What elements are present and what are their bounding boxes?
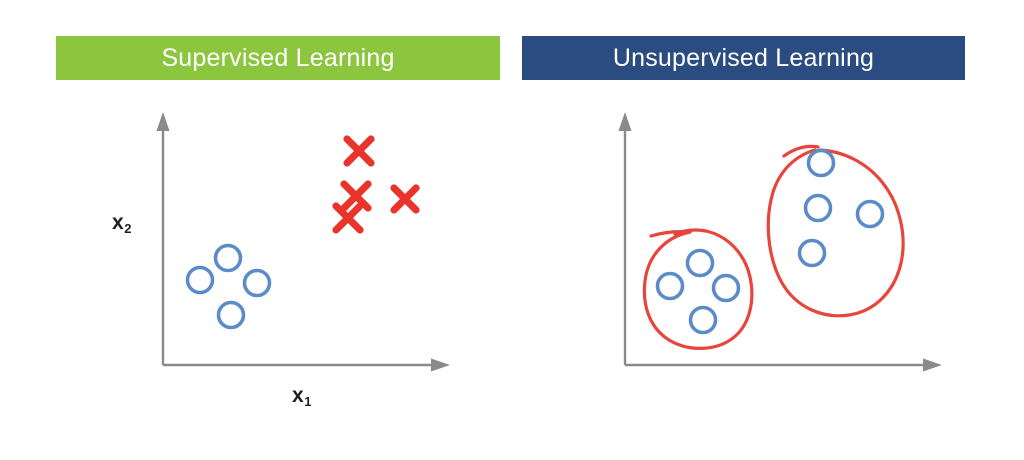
cross-marker [336, 206, 360, 230]
plot-unsupervised-svg [512, 100, 1024, 440]
axis-label-x1-subscript: 1 [304, 394, 311, 409]
circle-marker [800, 241, 825, 266]
cross-marker [394, 188, 416, 210]
circle-marker [658, 274, 683, 299]
plot-supervised-svg [0, 100, 512, 440]
marker-group-circles [188, 246, 270, 328]
axes-unsupervised [625, 122, 932, 365]
y-axis-arrowhead [157, 112, 170, 131]
axes-supervised [163, 122, 440, 365]
plot-supervised [0, 100, 512, 440]
circle-marker [809, 151, 834, 176]
axis-label-x2-base: x [112, 211, 124, 234]
circle-marker [714, 276, 739, 301]
axis-label-x1: x1 [292, 385, 311, 406]
banner-supervised-learning: Supervised Learning [56, 36, 500, 80]
circle-marker [245, 271, 270, 296]
panel-supervised: Supervised Learning [0, 0, 512, 460]
circle-marker [219, 303, 244, 328]
x-axis-arrowhead [431, 359, 450, 372]
axis-label-x2-subscript: 2 [124, 221, 131, 236]
lasso-cluster-2 [768, 146, 903, 315]
circle-marker [858, 202, 883, 227]
cross-marker [344, 184, 368, 208]
axis-label-x1-base: x [292, 384, 304, 407]
banner-unsupervised-learning: Unsupervised Learning [522, 36, 965, 80]
marker-group-cluster-1 [658, 251, 739, 333]
circle-marker [691, 308, 716, 333]
circle-marker [188, 268, 213, 293]
y-axis-arrowhead [619, 112, 632, 131]
plot-unsupervised [512, 100, 1024, 440]
circle-marker [806, 196, 831, 221]
marker-group-crosses [336, 139, 416, 230]
cross-marker [347, 139, 371, 163]
x-axis-arrowhead [923, 359, 942, 372]
figure-canvas: Supervised Learning [0, 0, 1024, 460]
panel-unsupervised: Unsupervised Learning [512, 0, 1024, 460]
circle-marker [688, 251, 713, 276]
axis-label-x2: x2 [112, 212, 131, 233]
circle-marker [216, 246, 241, 271]
